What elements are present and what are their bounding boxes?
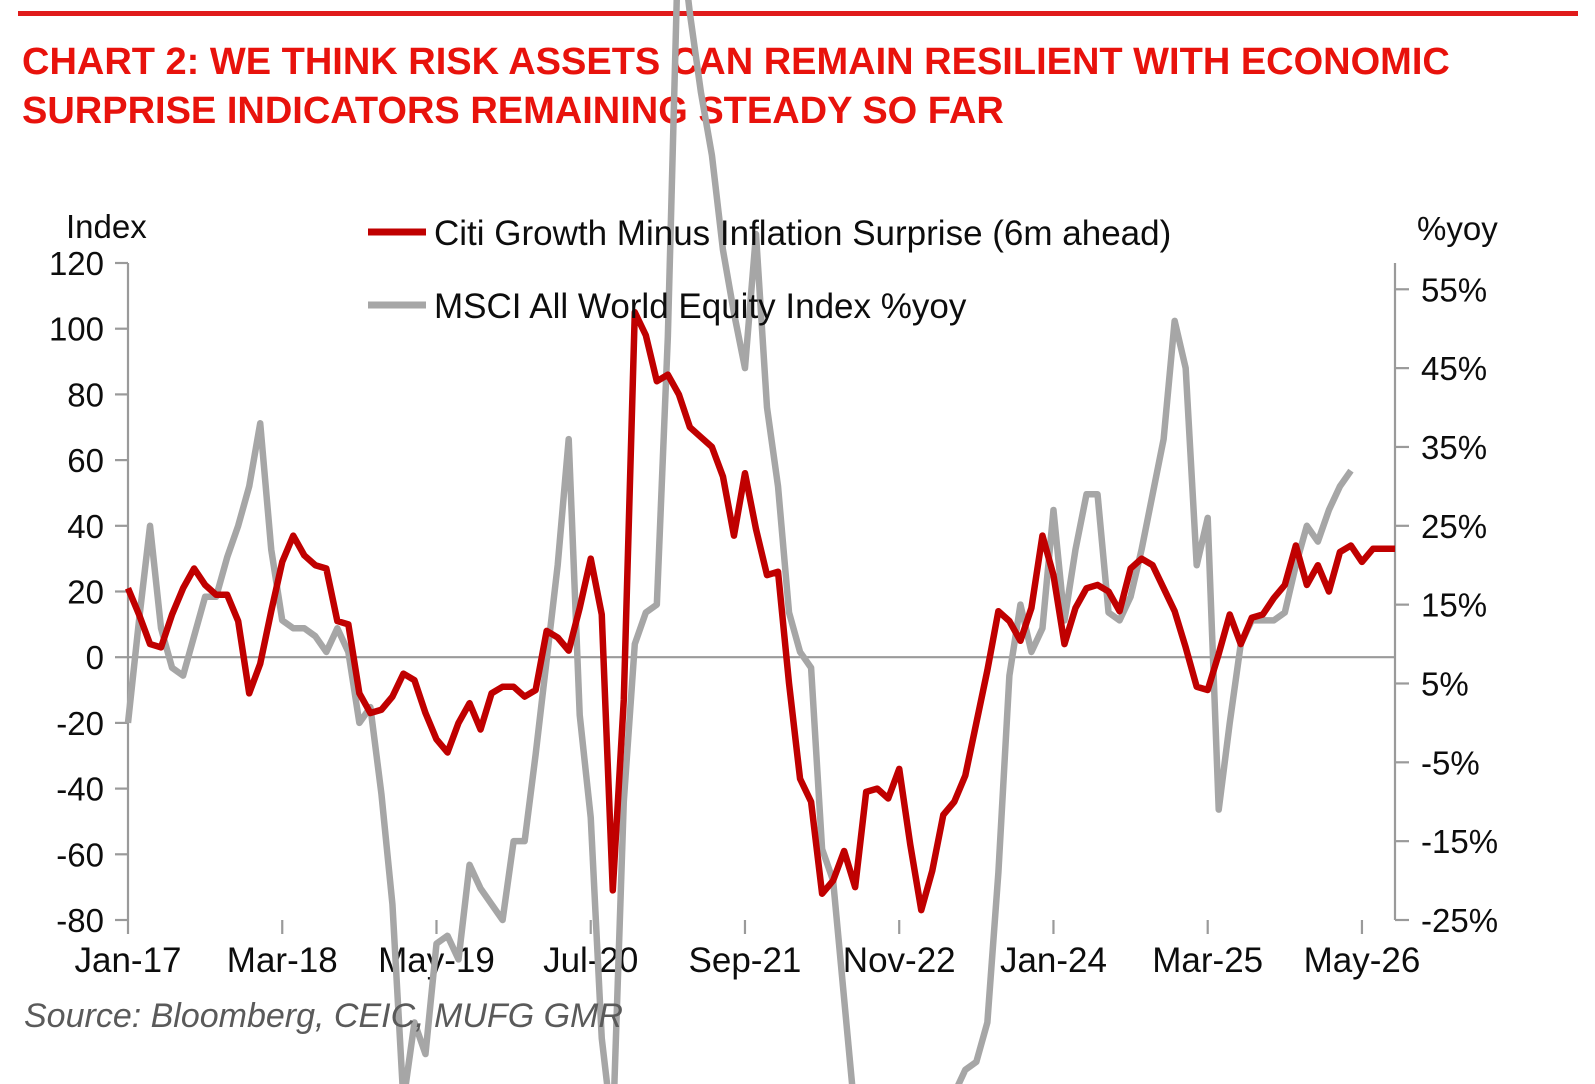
left-axis-tick-label: 100 — [49, 311, 104, 348]
right-axis-title: %yoy — [1417, 210, 1498, 247]
left-axis-tick-label: -20 — [56, 705, 104, 742]
right-axis-tick-label: 55% — [1421, 271, 1487, 308]
right-axis-tick-label: -25% — [1421, 902, 1498, 939]
x-axis-tick-label: Mar-18 — [227, 941, 338, 980]
chart-svg: -80-60-40-20020406080100120-25%-15%-5%5%… — [0, 0, 1595, 1084]
series-group — [128, 0, 1395, 1084]
left-axis-tick-label: -60 — [56, 836, 104, 873]
legend-label-msci: MSCI All World Equity Index %yoy — [434, 287, 967, 326]
left-axis-tick-label: 120 — [49, 245, 104, 282]
x-axis-tick-label: Jan-17 — [74, 941, 181, 980]
x-axis-tick-label: May-26 — [1304, 941, 1421, 980]
left-axis-tick-label: -80 — [56, 902, 104, 939]
left-axis-tick-label: 40 — [67, 508, 104, 545]
right-axis-tick-label: -5% — [1421, 744, 1480, 781]
right-axis-tick-label: 15% — [1421, 587, 1487, 624]
x-axis-tick-label: Jul-20 — [543, 941, 638, 980]
x-axis-tick-label: Nov-22 — [843, 941, 956, 980]
chart-plot-container: -80-60-40-20020406080100120-25%-15%-5%5%… — [0, 0, 1595, 1084]
right-axis-tick-label: 5% — [1421, 665, 1469, 702]
right-axis-tick-label: -15% — [1421, 823, 1498, 860]
series-line-citi — [128, 312, 1395, 910]
x-axis-tick-label: Mar-25 — [1152, 941, 1263, 980]
source-note: Source: Bloomberg, CEIC, MUFG GMR — [24, 997, 623, 1036]
left-axis-tick-label: 60 — [67, 442, 104, 479]
x-axis-tick-label: Sep-21 — [689, 941, 802, 980]
legend: Citi Growth Minus Inflation Surprise (6m… — [368, 214, 1171, 326]
right-axis-tick-label: 45% — [1421, 350, 1487, 387]
legend-label-citi: Citi Growth Minus Inflation Surprise (6m… — [434, 214, 1171, 253]
series-line-msci — [128, 0, 1351, 1084]
left-axis-tick-label: -40 — [56, 771, 104, 808]
left-axis-tick-label: 0 — [86, 639, 104, 676]
left-axis-tick-label: 80 — [67, 376, 104, 413]
x-axis-tick-label: Jan-24 — [1000, 941, 1107, 980]
left-axis-title: Index — [66, 208, 147, 245]
right-axis-tick-label: 35% — [1421, 429, 1487, 466]
right-axis-tick-label: 25% — [1421, 508, 1487, 545]
left-axis-tick-label: 20 — [67, 574, 104, 611]
